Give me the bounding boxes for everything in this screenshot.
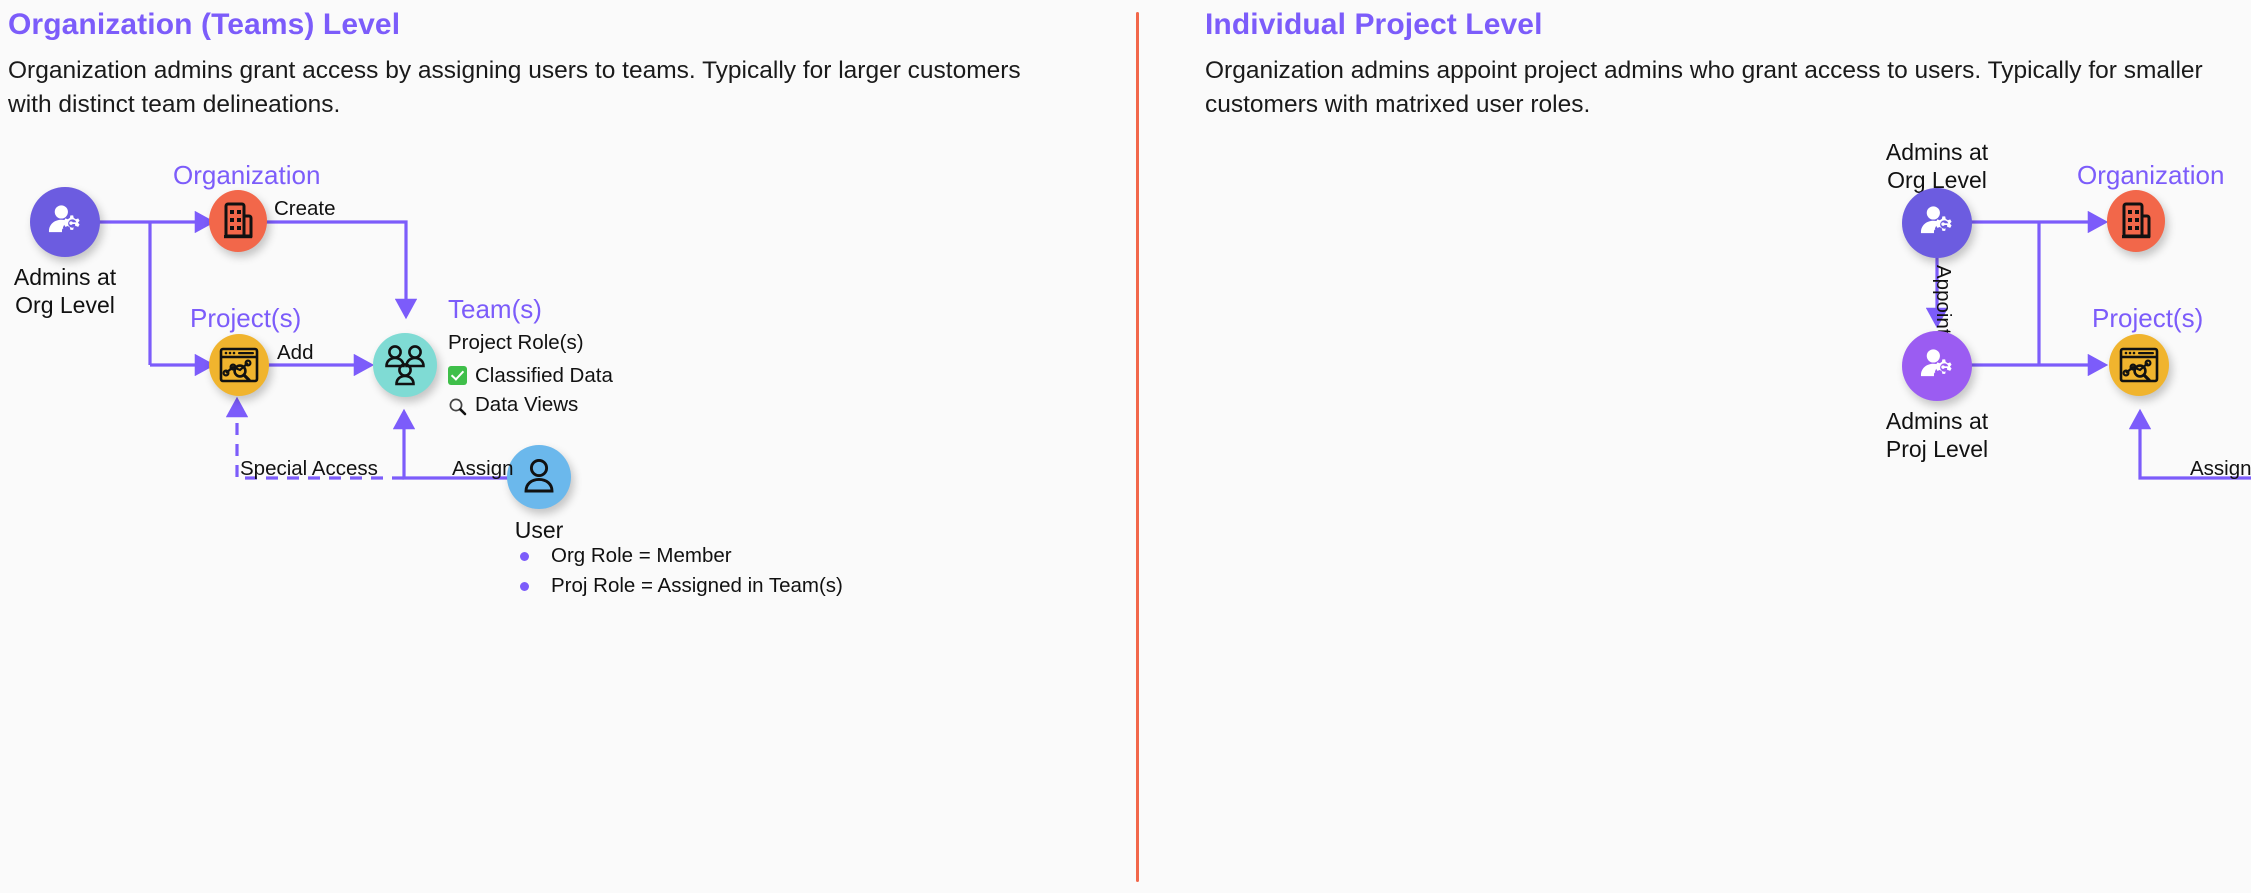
edge-label-special-access: Special Access	[240, 457, 378, 481]
project-analytics-icon	[2119, 347, 2159, 383]
node-caption-admin-org: Admins at Org Level	[0, 263, 135, 319]
node-project[interactable]	[209, 334, 269, 396]
roles-heading: Project Role(s)	[448, 328, 613, 357]
node-admin-org[interactable]	[1902, 188, 1972, 258]
node-title-project: Project(s)	[190, 303, 301, 334]
building-icon	[2118, 202, 2154, 240]
role-item-data-views: Data Views	[448, 390, 613, 419]
check-icon	[448, 366, 467, 385]
user-bullets-left: Org Role = Member Proj Role = Assigned i…	[520, 541, 843, 601]
list-item: Proj Role = Assigned in Team(s)	[520, 571, 843, 601]
bullet-label: Org Role = Member	[551, 541, 732, 571]
node-title-organization: Organization	[173, 160, 320, 191]
node-title-project: Project(s)	[2092, 303, 2203, 334]
team-people-icon	[382, 343, 428, 387]
node-organization[interactable]	[2107, 190, 2165, 252]
edge-label-create: Create	[274, 197, 336, 221]
node-caption-admin-org: Admins at Org Level	[1867, 138, 2007, 194]
admin-key-icon	[43, 200, 87, 244]
bullet-icon	[520, 582, 529, 591]
node-organization[interactable]	[209, 190, 267, 252]
connector-lines-right	[1137, 0, 2251, 893]
node-caption-admin-proj: Admins at Proj Level	[1867, 407, 2007, 463]
bullet-icon	[520, 552, 529, 561]
edge-label-assign: Assign	[2190, 457, 2251, 481]
role-label: Classified Data	[475, 361, 613, 390]
role-item-classified-data: Classified Data	[448, 361, 613, 390]
node-project[interactable]	[2109, 334, 2169, 396]
roles-team: Project Role(s) Classified Data Data Vie…	[448, 328, 613, 419]
admin-key-icon	[1915, 201, 1959, 245]
panel-organization-teams-level: Organization (Teams) Level Organization …	[0, 0, 1137, 893]
connector-lines-left	[0, 0, 1137, 893]
magnifier-icon	[448, 395, 467, 414]
edge-label-appoint: Appoint	[1931, 265, 1955, 335]
node-title-organization: Organization	[2077, 160, 2224, 191]
building-icon	[220, 202, 256, 240]
node-caption-user: User	[479, 516, 599, 544]
node-team[interactable]	[373, 333, 437, 397]
edge-label-add: Add	[277, 341, 313, 365]
node-title-team: Team(s)	[448, 294, 542, 325]
panel-individual-project-level: Individual Project Level Organization ad…	[1137, 0, 2251, 893]
edge-label-assign: Assign	[452, 457, 514, 481]
list-item: Org Role = Member	[520, 541, 843, 571]
node-user[interactable]	[507, 445, 571, 509]
role-label: Data Views	[475, 390, 578, 419]
bullet-label: Proj Role = Assigned in Team(s)	[551, 571, 843, 601]
project-analytics-icon	[219, 347, 259, 383]
admin-key-icon	[1915, 344, 1959, 388]
diagram-canvas-right: Admins at Org Level Appoint Organization	[1137, 0, 2251, 893]
diagram-canvas-left: Admins at Org Level Organization Create	[0, 0, 1137, 893]
node-admin-proj[interactable]	[1902, 331, 1972, 401]
user-icon	[522, 457, 556, 497]
node-admin-org[interactable]	[30, 187, 100, 257]
